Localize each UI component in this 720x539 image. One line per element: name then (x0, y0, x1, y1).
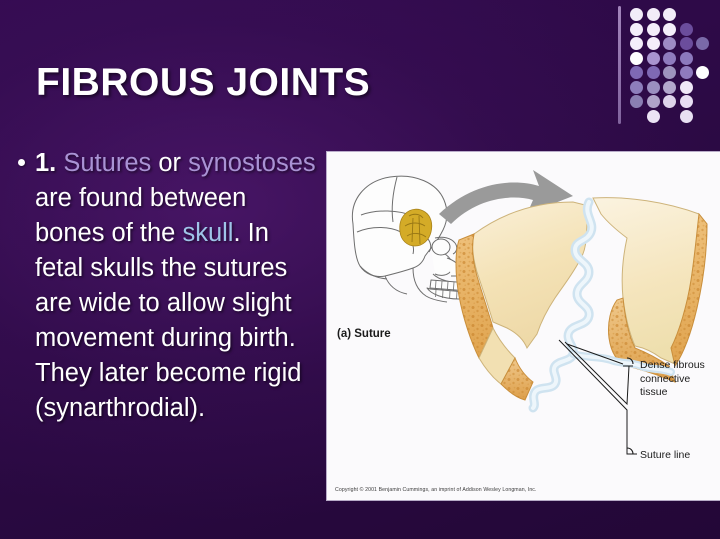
label-dense-fibrous-connective-tissue: Dense fibrous connective tissue (640, 359, 716, 400)
logo-dot (630, 81, 643, 94)
logo-dot (647, 110, 660, 123)
logo-dot (663, 23, 676, 36)
bullet-number: 1. (35, 149, 56, 177)
logo-dot (680, 66, 693, 79)
logo-dot (647, 8, 660, 21)
suture-illustration (327, 152, 720, 500)
figure-copyright: Copyright © 2001 Benjamin Cummings, an i… (335, 487, 537, 493)
bullet-segment-2: synostoses (188, 149, 316, 177)
logo-dot (647, 23, 660, 36)
logo-dot (630, 52, 643, 65)
label-suture-line: Suture line (640, 449, 716, 463)
logo-dot (663, 81, 676, 94)
dot-grid-logo (610, 0, 720, 130)
logo-dot (630, 23, 643, 36)
label-hook-lines (627, 358, 633, 454)
logo-dot (663, 66, 676, 79)
bone-left-plate (456, 202, 589, 400)
logo-dot (680, 37, 693, 50)
bullet-segment-0: Sutures (56, 149, 151, 177)
logo-dot (630, 95, 643, 108)
figure-panel: (a) Suture Dense fibrous connective tiss… (327, 152, 720, 500)
logo-dot (663, 52, 676, 65)
bullet-segment-4: skull (182, 219, 233, 247)
slide-root: FIBROUS JOINTS 1. Sutures or synostoses … (0, 0, 720, 539)
logo-dot (680, 81, 693, 94)
logo-dot (696, 37, 709, 50)
bone-right-plate (593, 198, 707, 382)
logo-dot (630, 66, 643, 79)
logo-dot (663, 8, 676, 21)
bullet-segment-5: . In fetal skulls the sutures are wide t… (35, 219, 301, 422)
logo-dot (647, 66, 660, 79)
vertical-rule-divider (618, 6, 621, 124)
bullet-text: 1. Sutures or synostoses are found betwe… (35, 146, 322, 426)
figure-caption: (a) Suture (337, 328, 391, 340)
page-title: FIBROUS JOINTS (36, 61, 370, 105)
logo-dot (647, 52, 660, 65)
logo-dot (680, 95, 693, 108)
logo-dot (647, 81, 660, 94)
bullet-marker-icon (18, 159, 25, 166)
bullet-list-item: 1. Sutures or synostoses are found betwe… (10, 146, 322, 426)
bullet-segment-1: or (151, 149, 188, 177)
logo-dot (680, 110, 693, 123)
logo-dot (647, 37, 660, 50)
logo-dot (680, 23, 693, 36)
logo-dot (696, 66, 709, 79)
logo-dot (680, 52, 693, 65)
logo-dot (647, 95, 660, 108)
logo-dot (630, 37, 643, 50)
logo-dot (663, 95, 676, 108)
logo-dot (630, 8, 643, 21)
skull-suture-highlight (400, 209, 432, 246)
logo-dot (663, 37, 676, 50)
